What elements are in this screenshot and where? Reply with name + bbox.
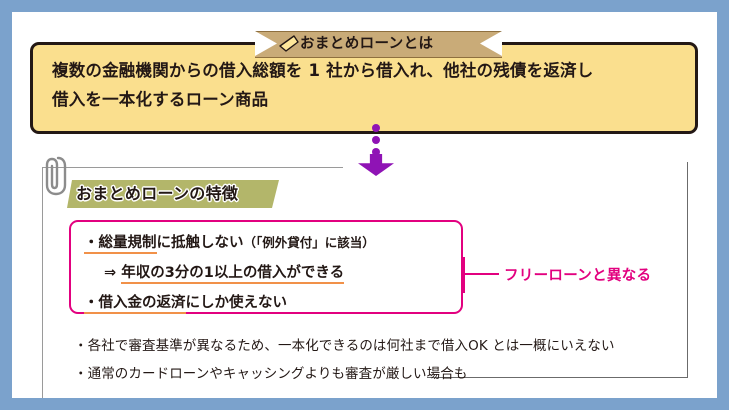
feature-line-3: ・借入金の返済にしか使えない xyxy=(84,291,287,312)
bullet-line-2: ・通常のカードローンやキャッシングよりも審査が厳しい場合も xyxy=(74,362,467,382)
side-note-label: フリーローンと異なる xyxy=(504,264,651,285)
feature-line-2: ⇒ 年収の3分の1以上の借入ができる xyxy=(104,261,344,282)
feature-line-1: ・総量規制に抵触しない（「例外貸付」に該当） xyxy=(84,231,375,252)
arrow-dot xyxy=(372,124,380,132)
leader-line-horizontal xyxy=(463,273,499,275)
definition-line-1: 複数の金融機関からの借入総額を 1 社から借入れ、他社の残債を返済し xyxy=(52,56,692,85)
feature-line-3-underlined: ・借入金の返済 xyxy=(84,295,186,314)
leader-line-vertical xyxy=(463,257,465,293)
feature-line-1-underlined: ・総量規制 xyxy=(84,235,157,254)
feature-line-3-rest: にしか使えない xyxy=(186,295,288,311)
down-arrow-dotted-icon xyxy=(356,124,396,174)
highlighter-pen-icon xyxy=(278,34,300,54)
bullet-line-1: ・各社で審査基準が異なるため、一本化できるのは何社まで借入OK とは一概にいえな… xyxy=(74,334,615,354)
arrow-head xyxy=(358,154,394,176)
infographic-canvas: おまとめローンとは 複数の金融機関からの借入総額を 1 社から借入れ、他社の残債… xyxy=(12,12,717,398)
definition-line-2: 借入を一本化するローン商品 xyxy=(52,85,692,114)
feature-line-1-note: （「例外貸付」に該当） xyxy=(244,235,375,250)
feature-line-2-arrow: ⇒ xyxy=(104,265,121,281)
feature-line-1-rest: に抵触しない xyxy=(157,235,244,251)
features-heading-label: おまとめローンの特徴 xyxy=(76,182,286,206)
ribbon-title: おまとめローンとは xyxy=(300,33,500,55)
arrow-dot xyxy=(372,136,380,144)
feature-line-2-underlined: 年収の3分の1以上の借入ができる xyxy=(121,265,344,284)
paperclip-icon xyxy=(38,152,72,198)
definition-text: 複数の金融機関からの借入総額を 1 社から借入れ、他社の残債を返済し 借入を一本… xyxy=(52,56,692,114)
